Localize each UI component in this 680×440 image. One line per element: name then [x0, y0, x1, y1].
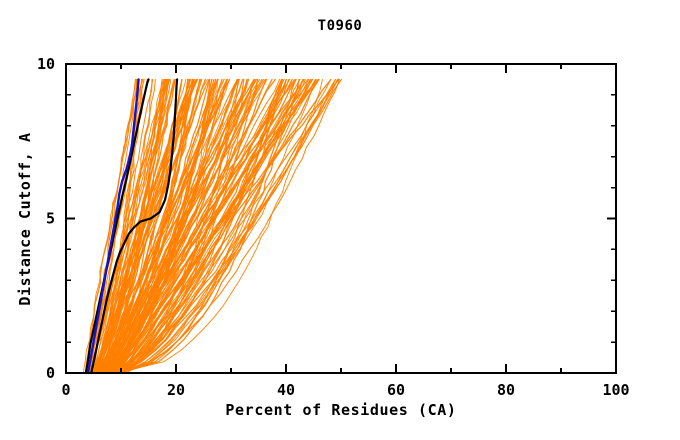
x-axis-tick-label: 0 — [61, 381, 70, 399]
distance-cutoff-chart: T0960 0204060801000510 Percent of Residu… — [0, 0, 680, 440]
x-axis-label: Percent of Residues (CA) — [225, 401, 456, 419]
x-axis-tick-label: 20 — [167, 381, 185, 399]
page-title: T0960 — [318, 18, 363, 34]
y-axis-tick-label: 5 — [46, 210, 55, 228]
y-axis-tick-label: 10 — [37, 55, 55, 73]
x-axis-tick-label: 40 — [277, 381, 295, 399]
y-axis-tick-label: 0 — [46, 364, 55, 382]
y-axis-label: Distance Cutoff, A — [16, 132, 34, 305]
plot-root: T0960 0204060801000510 Percent of Residu… — [0, 0, 680, 440]
x-axis-tick-label: 80 — [497, 381, 515, 399]
chart-background — [0, 0, 680, 440]
x-axis-tick-label: 100 — [602, 381, 629, 399]
x-axis-tick-label: 60 — [387, 381, 405, 399]
